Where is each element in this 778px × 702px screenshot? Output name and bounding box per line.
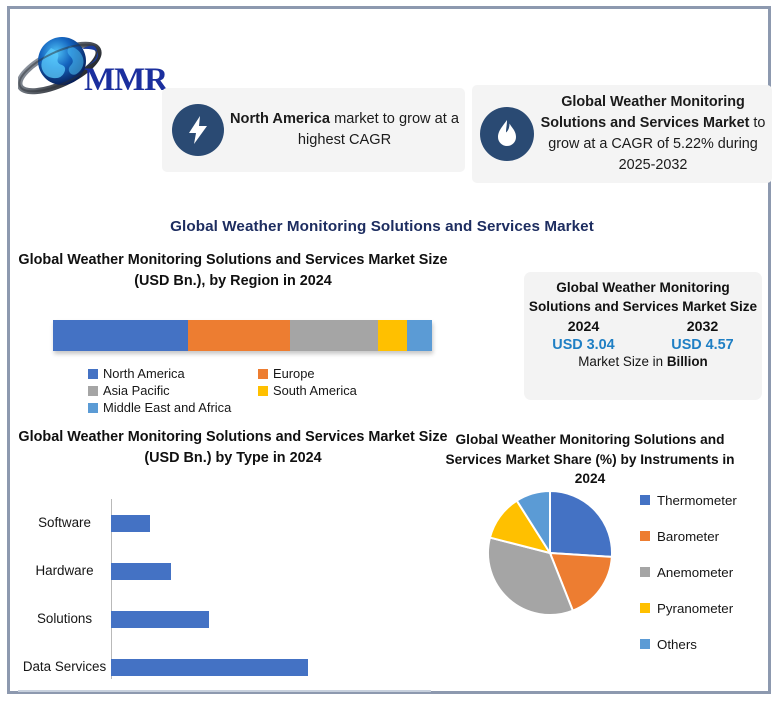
year-end: 2032 [687, 319, 719, 335]
type-chart-plot: SoftwareHardwareSolutionsData Services [18, 499, 448, 691]
pie-legend-label: Barometer [657, 529, 719, 544]
footer-bold: Billion [667, 354, 708, 369]
market-size-values: USD 3.04 USD 4.57 [524, 337, 762, 353]
legend-swatch-icon [88, 403, 98, 413]
region-legend-label: South America [273, 383, 357, 398]
pie-graphic [485, 488, 615, 618]
type-bar-row: Data Services [18, 643, 448, 691]
globe-orbit-icon: MMR [18, 30, 168, 102]
region-segment [188, 320, 290, 351]
region-segment [53, 320, 188, 351]
pie-legend: ThermometerBarometerAnemometerPyranomete… [640, 482, 737, 662]
type-bar-label: Data Services [18, 659, 111, 674]
infographic-page: MMR North America market to grow at a hi… [0, 0, 778, 702]
legend-swatch-icon [88, 369, 98, 379]
type-chart: Global Weather Monitoring Solutions and … [18, 427, 448, 695]
pie-legend-label: Anemometer [657, 565, 733, 580]
footer-plain: Market Size in [578, 354, 667, 369]
mmr-logo: MMR [18, 30, 168, 102]
region-stacked-bar [53, 320, 432, 351]
type-bar-row: Software [18, 499, 448, 547]
market-size-panel: Global Weather Monitoring Solutions and … [524, 272, 762, 400]
legend-swatch-icon [88, 386, 98, 396]
region-chart: Global Weather Monitoring Solutions and … [18, 250, 448, 420]
market-size-footer: Market Size in Billion [524, 354, 762, 369]
region-legend-label: Asia Pacific [103, 383, 170, 398]
value-end: USD 4.57 [671, 337, 733, 353]
type-chart-baseline [18, 690, 431, 692]
callout-2-text: Global Weather Monitoring Solutions and … [540, 92, 766, 176]
type-bar-row: Solutions [18, 595, 448, 643]
region-legend-item: South America [258, 383, 357, 398]
callout-2-bold: Global Weather Monitoring Solutions and … [541, 94, 750, 131]
callout-1-bold: North America [230, 111, 330, 127]
pie-legend-label: Thermometer [657, 493, 737, 508]
value-start: USD 3.04 [552, 337, 614, 353]
market-size-title: Global Weather Monitoring Solutions and … [524, 278, 762, 317]
type-bar-label: Software [18, 515, 111, 530]
type-bar [111, 659, 308, 676]
region-legend-item: North America [88, 366, 258, 381]
region-legend-label: Middle East and Africa [103, 400, 231, 415]
flame-icon [480, 107, 534, 161]
pie-legend-label: Others [657, 637, 697, 652]
type-chart-title: Global Weather Monitoring Solutions and … [18, 427, 448, 468]
region-legend-row: Middle East and Africa [88, 400, 418, 415]
type-bar-track [111, 547, 448, 595]
type-bar-track [111, 643, 448, 691]
legend-swatch-icon [258, 369, 268, 379]
type-bar-label: Solutions [18, 611, 111, 626]
type-bar [111, 515, 150, 532]
callout-1-text: North America market to grow at a highes… [230, 109, 459, 150]
instrument-pie-chart: Global Weather Monitoring Solutions and … [440, 430, 770, 692]
legend-swatch-icon [640, 495, 650, 505]
pie-chart-title: Global Weather Monitoring Solutions and … [440, 430, 740, 489]
region-legend-row: Asia PacificSouth America [88, 383, 418, 398]
region-legend: North AmericaEuropeAsia PacificSouth Ame… [88, 366, 418, 417]
legend-swatch-icon [640, 531, 650, 541]
region-legend-label: North America [103, 366, 185, 381]
region-legend-item: Asia Pacific [88, 383, 258, 398]
pie-legend-item: Pyranometer [640, 590, 737, 626]
region-segment [378, 320, 407, 351]
pie-legend-label: Pyranometer [657, 601, 733, 616]
region-legend-label: Europe [273, 366, 315, 381]
pie-slice [550, 491, 612, 557]
legend-swatch-icon [640, 603, 650, 613]
type-bar-track [111, 595, 448, 643]
type-bar-label: Hardware [18, 563, 111, 578]
pie-legend-item: Thermometer [640, 482, 737, 518]
legend-swatch-icon [640, 639, 650, 649]
market-size-years: 2024 2032 [524, 319, 762, 335]
type-bar [111, 563, 171, 580]
callout-north-america: North America market to grow at a highes… [162, 88, 465, 172]
legend-swatch-icon [640, 567, 650, 577]
type-bar-track [111, 499, 448, 547]
page-title: Global Weather Monitoring Solutions and … [0, 218, 764, 235]
pie-legend-item: Others [640, 626, 737, 662]
type-bar [111, 611, 209, 628]
pie-legend-item: Anemometer [640, 554, 737, 590]
pie-legend-item: Barometer [640, 518, 737, 554]
lightning-bolt-icon [172, 104, 224, 156]
legend-swatch-icon [258, 386, 268, 396]
region-legend-item: Middle East and Africa [88, 400, 231, 415]
region-legend-row: North AmericaEurope [88, 366, 418, 381]
region-legend-item: Europe [258, 366, 315, 381]
callout-market-cagr: Global Weather Monitoring Solutions and … [472, 85, 772, 183]
region-chart-title: Global Weather Monitoring Solutions and … [18, 250, 448, 291]
type-bar-row: Hardware [18, 547, 448, 595]
region-segment [290, 320, 378, 351]
year-start: 2024 [568, 319, 600, 335]
region-segment [407, 320, 432, 351]
svg-text:MMR: MMR [84, 62, 168, 98]
